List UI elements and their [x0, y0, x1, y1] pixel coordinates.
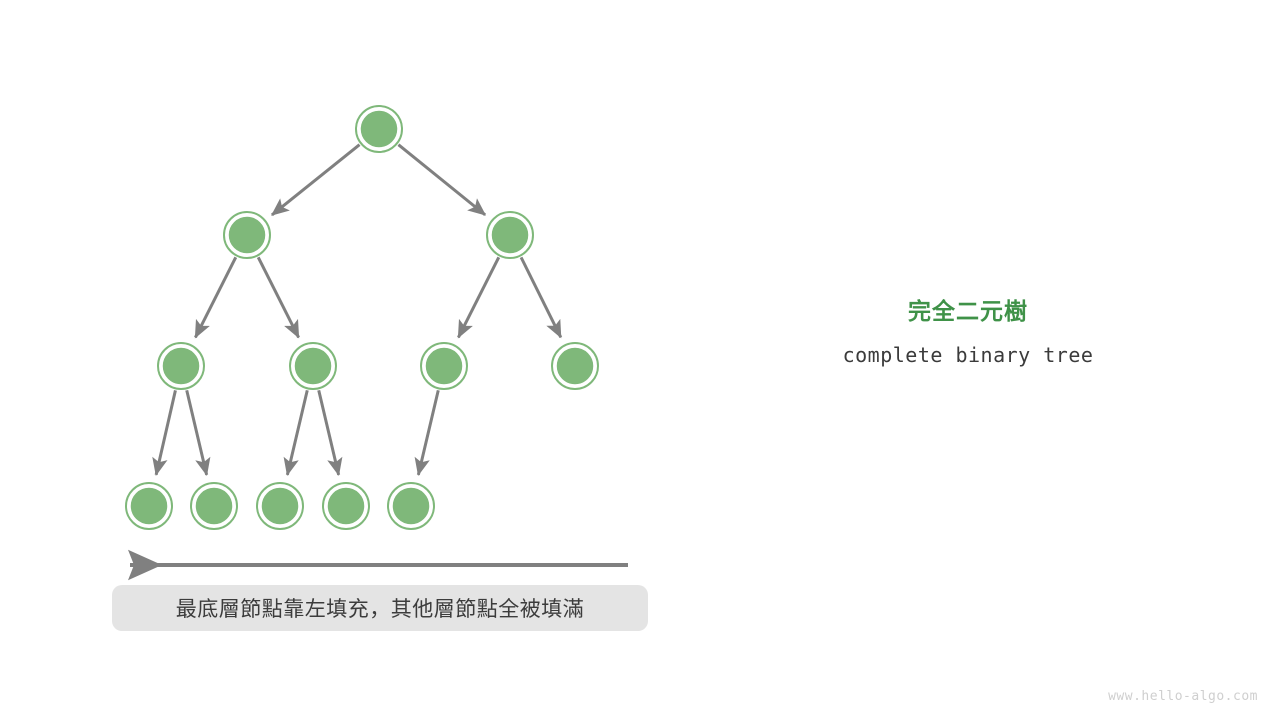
tree-node-circle: [162, 347, 200, 385]
tree-node: [191, 483, 237, 529]
tree-node-circle: [392, 487, 430, 525]
legend-subtitle: complete binary tree: [768, 342, 1168, 368]
caption-text: 最底層節點靠左填充，其他層節點全被填滿: [176, 593, 585, 623]
watermark: www.hello-algo.com: [1108, 689, 1258, 704]
tree-node: [487, 212, 533, 258]
tree-node-circle: [195, 487, 233, 525]
tree-node: [356, 106, 402, 152]
tree-node: [290, 343, 336, 389]
tree-node-circle: [327, 487, 365, 525]
tree-edges-layer: [156, 145, 561, 475]
tree-node: [421, 343, 467, 389]
tree-node: [126, 483, 172, 529]
tree-edge: [287, 390, 307, 475]
tree-node: [323, 483, 369, 529]
tree-node-circle: [261, 487, 299, 525]
tree-node: [257, 483, 303, 529]
tree-node-circle: [491, 216, 529, 254]
tree-edge: [458, 257, 498, 337]
tree-edge: [521, 257, 561, 337]
tree-node: [158, 343, 204, 389]
tree-edge: [319, 390, 339, 475]
tree-node-circle: [294, 347, 332, 385]
caption-box: 最底層節點靠左填充，其他層節點全被填滿: [112, 585, 648, 631]
legend-block: 完全二元樹 complete binary tree: [768, 296, 1168, 368]
tree-edge: [418, 390, 438, 475]
tree-edge: [156, 390, 175, 474]
tree-nodes-layer: [126, 106, 598, 529]
tree-node-circle: [130, 487, 168, 525]
tree-edge: [398, 145, 485, 215]
tree-node-circle: [425, 347, 463, 385]
tree-node: [224, 212, 270, 258]
tree-edge: [187, 390, 207, 475]
tree-edge: [195, 257, 235, 337]
tree-edge: [272, 145, 360, 215]
tree-node-circle: [556, 347, 594, 385]
tree-node-circle: [228, 216, 266, 254]
tree-node-circle: [360, 110, 398, 148]
tree-node: [388, 483, 434, 529]
tree-node: [552, 343, 598, 389]
legend-title: 完全二元樹: [768, 296, 1168, 326]
tree-edge: [258, 257, 298, 337]
